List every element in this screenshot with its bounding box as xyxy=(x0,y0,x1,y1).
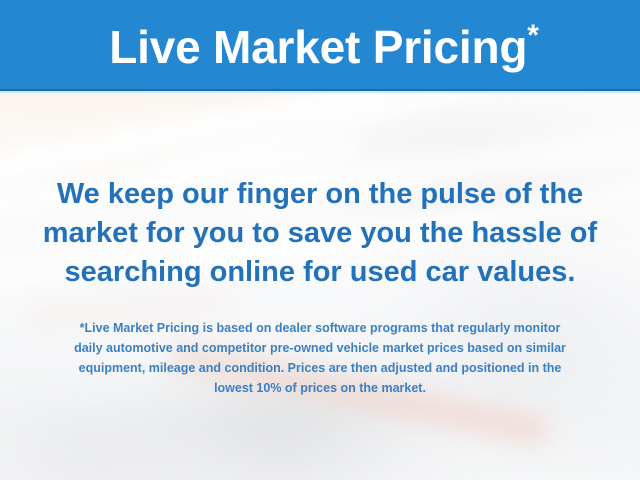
footnote-line: daily automotive and competitor pre-owne… xyxy=(22,338,618,358)
headline: We keep our finger on the pulse of the m… xyxy=(0,175,640,292)
page-title: Live Market Pricing* xyxy=(101,21,539,70)
page-title-text: Live Market Pricing xyxy=(109,21,527,73)
slide-content: We keep our finger on the pulse of the m… xyxy=(0,93,640,480)
footnote-disclaimer: *Live Market Pricing is based on dealer … xyxy=(0,318,640,398)
footnote-line: equipment, mileage and condition. Prices… xyxy=(22,358,618,378)
footnote-line: *Live Market Pricing is based on dealer … xyxy=(22,318,618,338)
headline-line: market for you to save you the hassle of xyxy=(18,214,622,253)
header-banner: Live Market Pricing* xyxy=(0,0,640,90)
headline-line: We keep our finger on the pulse of the xyxy=(18,175,622,214)
page-title-asterisk: * xyxy=(527,19,538,52)
headline-line: searching online for used car values. xyxy=(18,253,622,292)
live-market-pricing-slide: Live Market Pricing* We keep our finger … xyxy=(0,0,640,480)
footnote-line: lowest 10% of prices on the market. xyxy=(22,378,618,398)
